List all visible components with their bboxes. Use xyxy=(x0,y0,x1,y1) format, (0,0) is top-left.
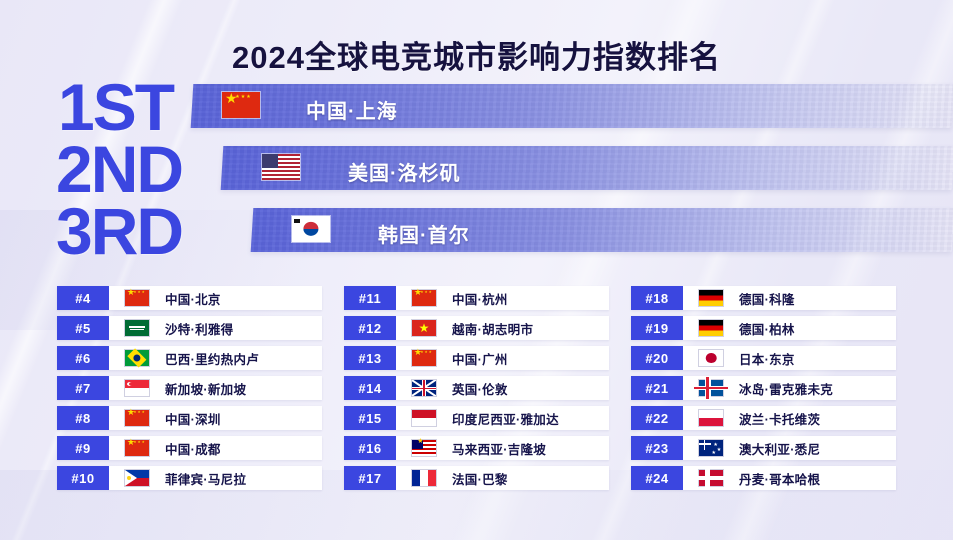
table-row[interactable]: #14英国·伦敦 xyxy=(344,376,609,400)
city-label: 印度尼西亚·雅加达 xyxy=(452,409,559,428)
rank-badge: #16 xyxy=(344,436,396,460)
pl-flag-icon xyxy=(699,410,723,426)
podium-row-3[interactable]: 3RD 韩国·首尔 xyxy=(0,208,953,266)
rank-badge: #5 xyxy=(57,316,109,340)
rank-badge: #18 xyxy=(631,286,683,310)
gb-flag-icon xyxy=(412,380,436,396)
table-row[interactable]: #10菲律宾·马尼拉 xyxy=(57,466,322,490)
rank-badge: #22 xyxy=(631,406,683,430)
city-label: 中国·杭州 xyxy=(452,289,508,308)
table-row[interactable]: #9中国·成都 xyxy=(57,436,322,460)
table-row[interactable]: #7新加坡·新加坡 xyxy=(57,376,322,400)
cn-flag-icon xyxy=(125,410,149,426)
my-flag-icon xyxy=(412,440,436,456)
sg-flag-icon xyxy=(125,380,149,396)
rank-badge: #10 xyxy=(57,466,109,490)
de-flag-icon xyxy=(699,290,723,306)
au-flag-icon: ★★★ xyxy=(699,440,723,456)
city-label: 中国·北京 xyxy=(165,289,221,308)
podium-band-3 xyxy=(251,208,953,252)
city-label: 沙特·利雅得 xyxy=(165,319,233,338)
podium-section: 1ST 中国·上海 2ND 美国·洛杉矶 3RD 韩国·首尔 xyxy=(0,84,953,274)
table-row[interactable]: #17法国·巴黎 xyxy=(344,466,609,490)
de-flag-icon xyxy=(699,320,723,336)
city-label: 日本·东京 xyxy=(739,349,795,368)
city-label: 新加坡·新加坡 xyxy=(165,379,246,398)
cn-flag-icon xyxy=(125,290,149,306)
vn-flag-icon xyxy=(412,320,436,336)
city-label: 冰岛·雷克雅未克 xyxy=(739,379,833,398)
rank-badge: #7 xyxy=(57,376,109,400)
rank-badge: #11 xyxy=(344,286,396,310)
rank-badge: #9 xyxy=(57,436,109,460)
table-row[interactable]: #13中国·广州 xyxy=(344,346,609,370)
podium-city-3: 韩国·首尔 xyxy=(378,219,470,248)
ranking-column-3: #18德国·科隆 #19德国·柏林 #20日本·东京 #21冰岛·雷克雅未克 #… xyxy=(631,286,896,496)
city-label: 法国·巴黎 xyxy=(452,469,508,488)
id-flag-icon xyxy=(412,410,436,426)
table-row[interactable]: #8中国·深圳 xyxy=(57,406,322,430)
table-row[interactable]: #18德国·科隆 xyxy=(631,286,896,310)
jp-flag-icon xyxy=(699,350,723,366)
city-label: 中国·深圳 xyxy=(165,409,221,428)
ranking-column-2: #11中国·杭州 #12越南·胡志明市 #13中国·广州 #14英国·伦敦 #1… xyxy=(344,286,609,496)
city-label: 越南·胡志明市 xyxy=(452,319,533,338)
table-row[interactable]: #12越南·胡志明市 xyxy=(344,316,609,340)
rank-badge: #13 xyxy=(344,346,396,370)
city-label: 马来西亚·吉隆坡 xyxy=(452,439,546,458)
table-row[interactable]: #5沙特·利雅得 xyxy=(57,316,322,340)
rank-badge: #21 xyxy=(631,376,683,400)
rank-badge: #19 xyxy=(631,316,683,340)
dk-flag-icon xyxy=(699,470,723,486)
rank-badge: #14 xyxy=(344,376,396,400)
city-label: 德国·柏林 xyxy=(739,319,795,338)
podium-rank-2: 2ND xyxy=(56,136,182,202)
city-label: 丹麦·哥本哈根 xyxy=(739,469,820,488)
city-label: 澳大利亚·悉尼 xyxy=(739,439,820,458)
rank-badge: #15 xyxy=(344,406,396,430)
city-label: 菲律宾·马尼拉 xyxy=(165,469,246,488)
us-flag-icon xyxy=(262,154,300,180)
rank-badge: #4 xyxy=(57,286,109,310)
podium-city-2: 美国·洛杉矶 xyxy=(348,157,461,186)
city-label: 德国·科隆 xyxy=(739,289,795,308)
table-row[interactable]: #20日本·东京 xyxy=(631,346,896,370)
podium-rank-1: 1ST xyxy=(58,74,173,140)
is-flag-icon xyxy=(699,380,723,396)
city-label: 波兰·卡托维茨 xyxy=(739,409,820,428)
br-flag-icon xyxy=(125,350,149,366)
city-label: 巴西·里约热内卢 xyxy=(165,349,259,368)
ranking-column-1: #4中国·北京 #5沙特·利雅得 #6巴西·里约热内卢 #7新加坡·新加坡 #8… xyxy=(57,286,322,496)
rank-badge: #12 xyxy=(344,316,396,340)
table-row[interactable]: #6巴西·里约热内卢 xyxy=(57,346,322,370)
table-row[interactable]: #15印度尼西亚·雅加达 xyxy=(344,406,609,430)
ph-flag-icon xyxy=(125,470,149,486)
table-row[interactable]: #16马来西亚·吉隆坡 xyxy=(344,436,609,460)
rank-badge: #23 xyxy=(631,436,683,460)
rank-badge: #24 xyxy=(631,466,683,490)
cn-flag-icon xyxy=(222,92,260,118)
cn-flag-icon xyxy=(125,440,149,456)
kr-flag-icon xyxy=(292,216,330,242)
rank-badge: #8 xyxy=(57,406,109,430)
city-label: 英国·伦敦 xyxy=(452,379,508,398)
table-row[interactable]: #23★★★澳大利亚·悉尼 xyxy=(631,436,896,460)
table-row[interactable]: #24丹麦·哥本哈根 xyxy=(631,466,896,490)
podium-city-1: 中国·上海 xyxy=(306,95,398,124)
podium-band-2 xyxy=(221,146,953,190)
cn-flag-icon xyxy=(412,290,436,306)
rank-badge: #17 xyxy=(344,466,396,490)
rank-badge: #20 xyxy=(631,346,683,370)
city-label: 中国·广州 xyxy=(452,349,508,368)
sa-flag-icon xyxy=(125,320,149,336)
table-row[interactable]: #11中国·杭州 xyxy=(344,286,609,310)
city-label: 中国·成都 xyxy=(165,439,221,458)
table-row[interactable]: #19德国·柏林 xyxy=(631,316,896,340)
table-row[interactable]: #4中国·北京 xyxy=(57,286,322,310)
table-row[interactable]: #22波兰·卡托维茨 xyxy=(631,406,896,430)
table-row[interactable]: #21冰岛·雷克雅未克 xyxy=(631,376,896,400)
podium-band-1 xyxy=(191,84,953,128)
page-title: 2024全球电竞城市影响力指数排名 xyxy=(0,32,953,77)
cn-flag-icon xyxy=(412,350,436,366)
podium-rank-3: 3RD xyxy=(56,198,182,264)
fr-flag-icon xyxy=(412,470,436,486)
rank-badge: #6 xyxy=(57,346,109,370)
